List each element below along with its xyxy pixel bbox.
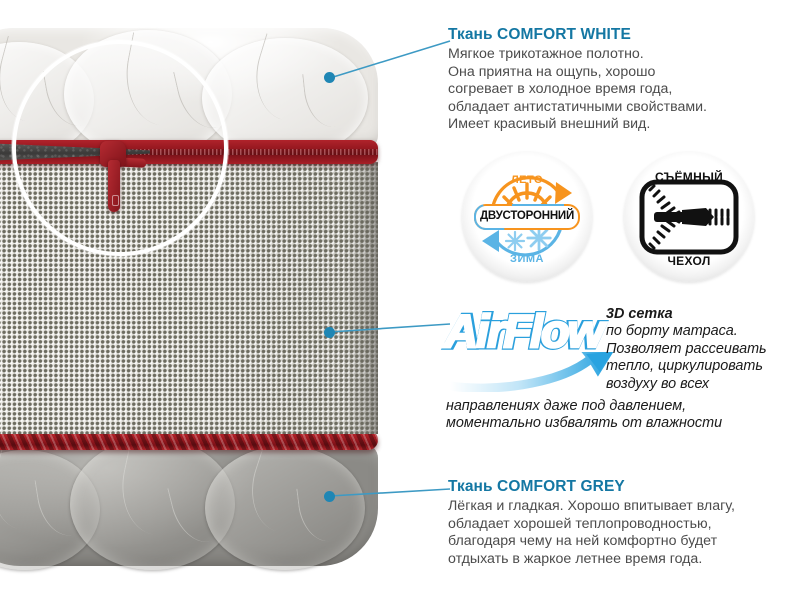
badge-label-winter: ЗИМА (462, 253, 592, 265)
airflow-line: направлениях даже под давлением, (446, 398, 798, 415)
callout-line: Имеет красивый внешний вид. (448, 116, 707, 134)
airflow-line: Позволяет рассеивать (606, 341, 798, 358)
callout-line: отдыхать в жаркое летнее время года. (448, 551, 735, 569)
airflow-swoosh-arrow-icon (448, 352, 620, 392)
callout-line: благодаря чему на ней комфортно будет (448, 533, 735, 551)
callout-title-comfort-grey: Ткань COMFORT GREY (448, 478, 735, 496)
airflow-line: воздуху во всех (606, 376, 798, 393)
airflow-line: моментально избвалять от влажности (446, 415, 798, 432)
airflow-line: по борту матраса. (606, 323, 798, 340)
callout-line: Мягкое трикотажное полотно. (448, 46, 707, 64)
leader-dot-comfort-grey (324, 491, 335, 502)
badge-removable-cover: СЪЁМНЫЙ ЧЕХОЛ (624, 152, 754, 282)
callout-line: обладает антистатичными свойствами. (448, 99, 707, 117)
leader-dot-airflow (324, 327, 335, 338)
airflow-logo: AirFlow AirFlow (446, 302, 618, 392)
airflow-description: 3D сетка по борту матраса. Позволяет рас… (606, 306, 798, 393)
airflow-heading: 3D сетка (606, 306, 673, 322)
badge-label-cover: ЧЕХОЛ (624, 254, 754, 268)
callout-line: согревает в холодное время года, (448, 81, 707, 99)
leader-dot-comfort-white (324, 72, 335, 83)
callout-line: Она приятна на ощупь, хорошо (448, 64, 707, 82)
callout-comfort-white: Ткань COMFORT WHITE Мягкое трикотажное п… (448, 26, 707, 134)
badge-label-removable: СЪЁМНЫЙ (624, 170, 754, 184)
callout-comfort-grey: Ткань COMFORT GREY Лёгкая и гладкая. Хор… (448, 478, 735, 568)
feature-badges-group: ЛЕТО ДВУСТОРОННИЙ ЗИМА (462, 152, 762, 288)
callout-line: обладает хорошей теплопроводностью, (448, 516, 735, 534)
callout-title-comfort-white: Ткань COMFORT WHITE (448, 26, 707, 44)
airflow-description-wide: направлениях даже под давлением, момента… (446, 398, 798, 433)
infographic-root: Ткань COMFORT WHITE Мягкое трикотажное п… (0, 0, 800, 600)
badge-double-sided: ЛЕТО ДВУСТОРОННИЙ ЗИМА (462, 152, 592, 282)
callout-line: Лёгкая и гладкая. Хорошо впитывает влагу… (448, 498, 735, 516)
airflow-line: тепло, циркулировать (606, 358, 798, 375)
callout-body-comfort-white: Мягкое трикотажное полотно. Она приятна … (448, 46, 707, 134)
callout-body-comfort-grey: Лёгкая и гладкая. Хорошо впитывает влагу… (448, 498, 735, 568)
badge-label-summer: ЛЕТО (462, 174, 592, 186)
badge-label-double-sided: ДВУСТОРОННИЙ (462, 210, 592, 222)
